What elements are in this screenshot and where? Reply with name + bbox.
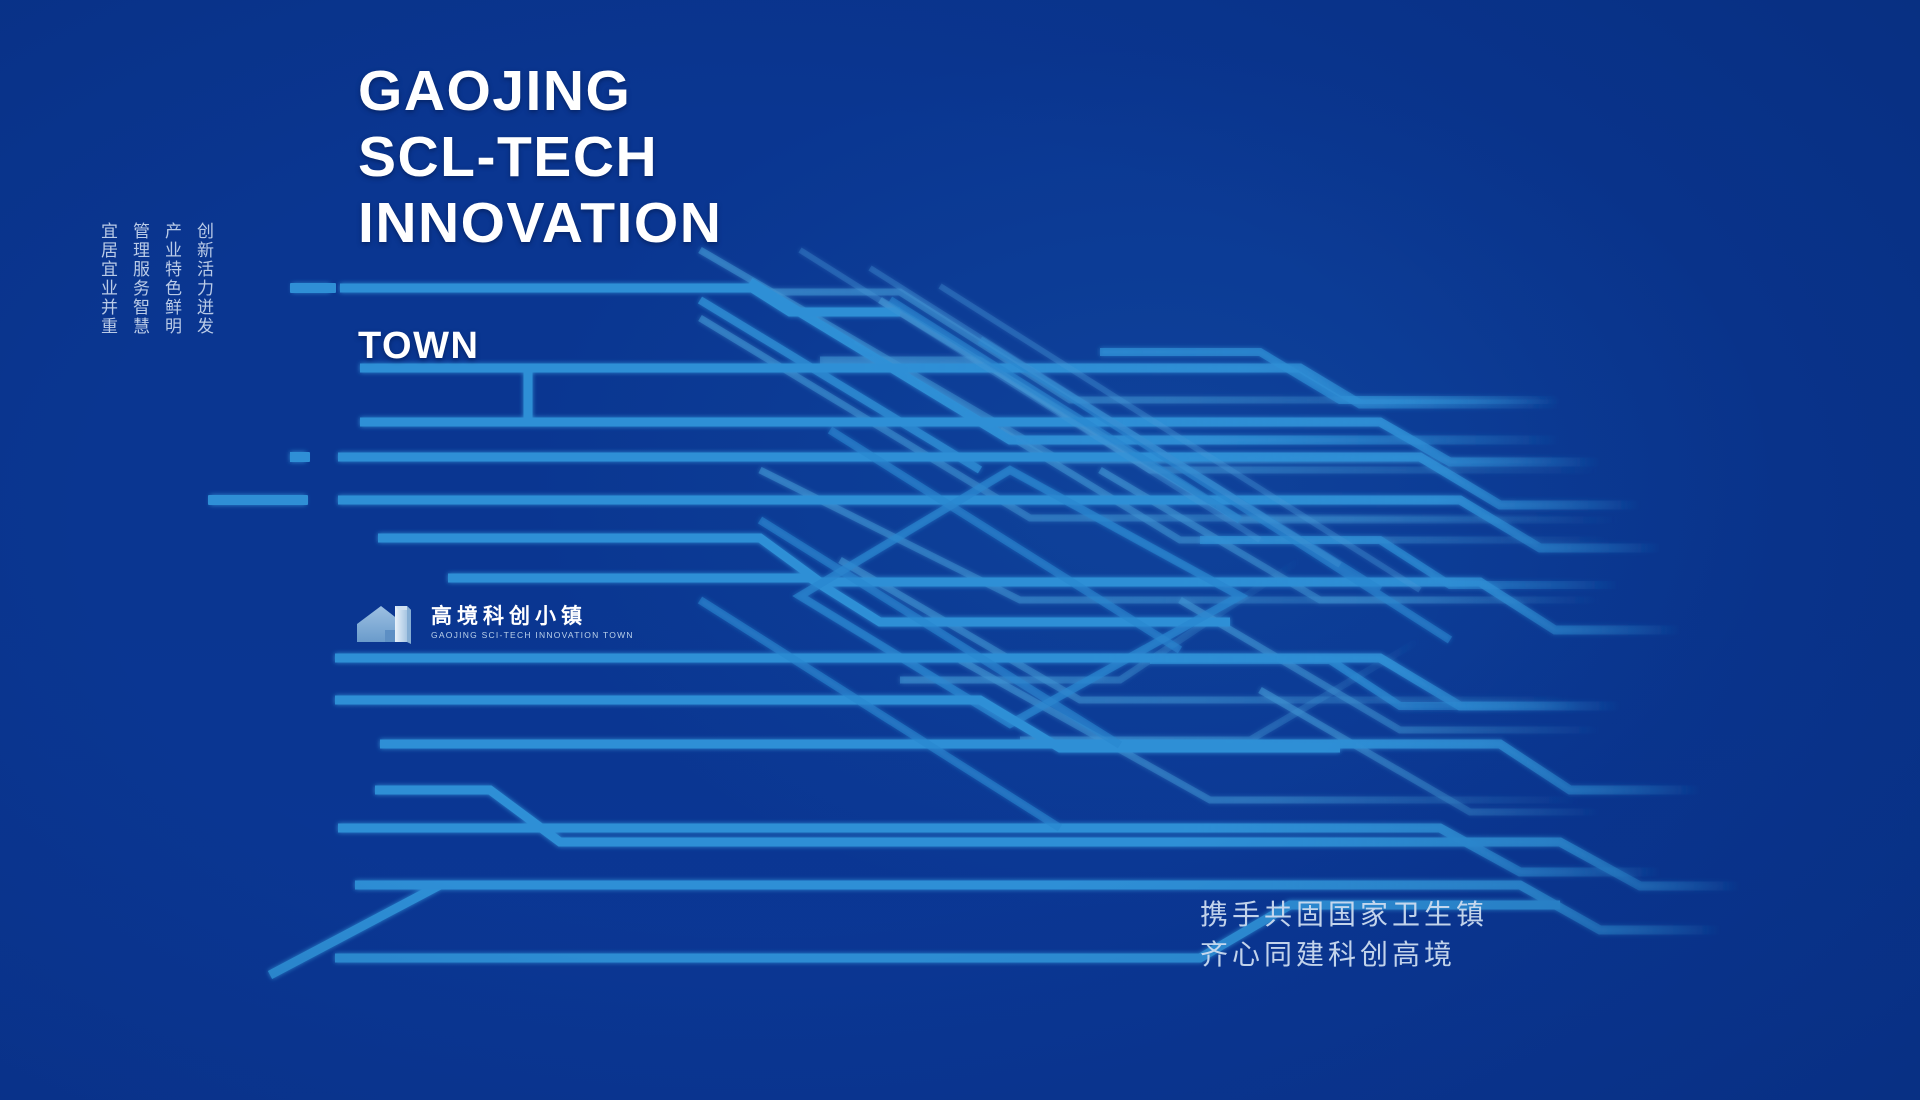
dash-marks xyxy=(208,283,336,505)
headline-line-1: GAOJING xyxy=(358,58,722,124)
poster-canvas: GAOJING SCL-TECH INNOVATION TOWN 创新活力迸发 … xyxy=(0,0,1920,1100)
headline-line-2: SCL-TECH xyxy=(358,124,722,190)
logo-name-en: GAOJING SCI-TECH INNOVATION TOWN xyxy=(431,630,634,641)
vertical-slogan-column-1: 创新活力迸发 xyxy=(190,222,216,432)
bottom-slogan-line-2: 齐心同建科创高境 xyxy=(1200,935,1488,975)
bottom-slogan: 携手共固国家卫生镇 齐心同建科创高境 xyxy=(1200,895,1488,975)
vertical-slogan-column-3: 管理服务智慧 xyxy=(126,222,152,432)
headline-line-4: TOWN xyxy=(358,325,479,368)
vertical-slogan-column-2: 产业特色鲜明 xyxy=(158,222,184,432)
house-building-icon xyxy=(355,600,419,646)
logo-name-cn: 高境科创小镇 xyxy=(431,605,634,629)
page-title: GAOJING SCL-TECH INNOVATION xyxy=(358,58,722,256)
vertical-slogan-column-4: 宜居宜业并重 xyxy=(94,222,120,432)
bottom-slogan-line-1: 携手共固国家卫生镇 xyxy=(1200,895,1488,935)
vertical-slogan: 创新活力迸发 产业特色鲜明 管理服务智慧 宜居宜业并重 xyxy=(66,222,216,432)
circuit-pattern-background xyxy=(0,0,1920,1100)
logo-text: 高境科创小镇 GAOJING SCI-TECH INNOVATION TOWN xyxy=(431,605,634,641)
headline-line-3: INNOVATION xyxy=(358,190,722,256)
logo-lockup: 高境科创小镇 GAOJING SCI-TECH INNOVATION TOWN xyxy=(355,600,634,646)
